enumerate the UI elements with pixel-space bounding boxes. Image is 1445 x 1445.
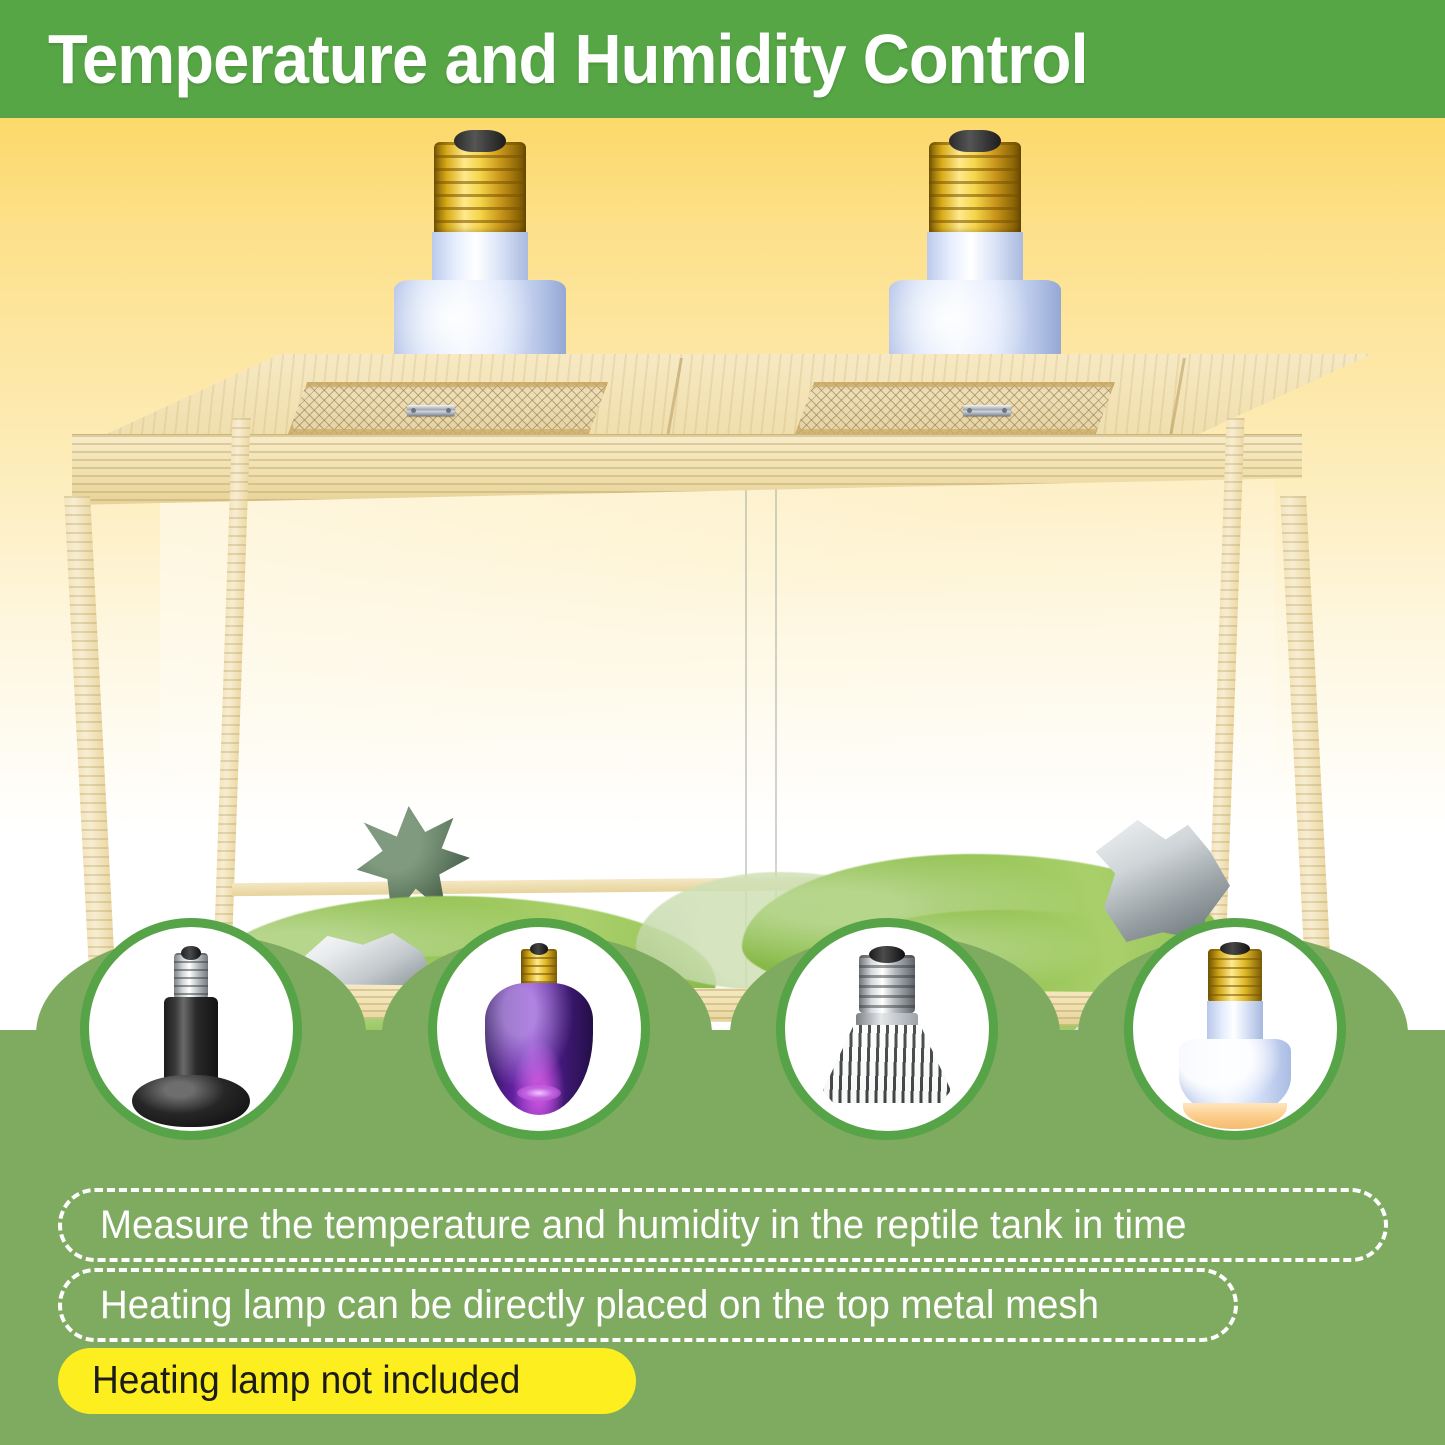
lamp-thumb-ceramic-heat-emitter[interactable] bbox=[80, 918, 302, 1140]
bulb-screw-cap bbox=[434, 142, 526, 234]
header-banner: Temperature and Humidity Control bbox=[0, 0, 1445, 118]
purple-night-bulb-icon bbox=[437, 927, 641, 1131]
lamp-thumb-blue-reflector-bulb[interactable] bbox=[1124, 918, 1346, 1140]
feature-box-placement: Heating lamp can be directly placed on t… bbox=[58, 1268, 1238, 1342]
lid-latch-front-left bbox=[407, 405, 455, 416]
product-photo-stage bbox=[0, 118, 1445, 1030]
lid-latch-front-right bbox=[963, 405, 1011, 416]
notice-text: Heating lamp not included bbox=[92, 1359, 520, 1403]
bulb-screw-cap bbox=[929, 142, 1021, 234]
bulb-reflector-cone bbox=[823, 1025, 951, 1103]
lamp-thumb-chrome-spot-bulb[interactable] bbox=[776, 918, 998, 1140]
bulb-glow-face bbox=[1183, 1103, 1287, 1129]
bulb-filament-glow bbox=[517, 1085, 561, 1101]
infographic-page: Temperature and Humidity Control bbox=[0, 0, 1445, 1445]
bulb-screw-cap bbox=[1208, 949, 1262, 1003]
chrome-spot-bulb-icon bbox=[785, 927, 989, 1131]
feature-box-measure: Measure the temperature and humidity in … bbox=[58, 1188, 1388, 1262]
ceramic-heat-emitter-icon bbox=[89, 927, 293, 1131]
feature-text-placement: Heating lamp can be directly placed on t… bbox=[100, 1283, 1099, 1328]
bulb-collar-ring bbox=[856, 1013, 918, 1027]
feature-text-measure: Measure the temperature and humidity in … bbox=[100, 1203, 1186, 1248]
emitter-base-plate bbox=[132, 1075, 250, 1127]
notice-badge: Heating lamp not included bbox=[58, 1348, 636, 1414]
bulb-screw-cap bbox=[859, 955, 915, 1013]
lamp-thumb-purple-night-bulb[interactable] bbox=[428, 918, 650, 1140]
emitter-screw-cap bbox=[174, 953, 208, 999]
tank-mesh-panel-right bbox=[795, 382, 1115, 434]
page-title: Temperature and Humidity Control bbox=[48, 24, 1088, 94]
blue-reflector-bulb-icon bbox=[1133, 927, 1337, 1131]
